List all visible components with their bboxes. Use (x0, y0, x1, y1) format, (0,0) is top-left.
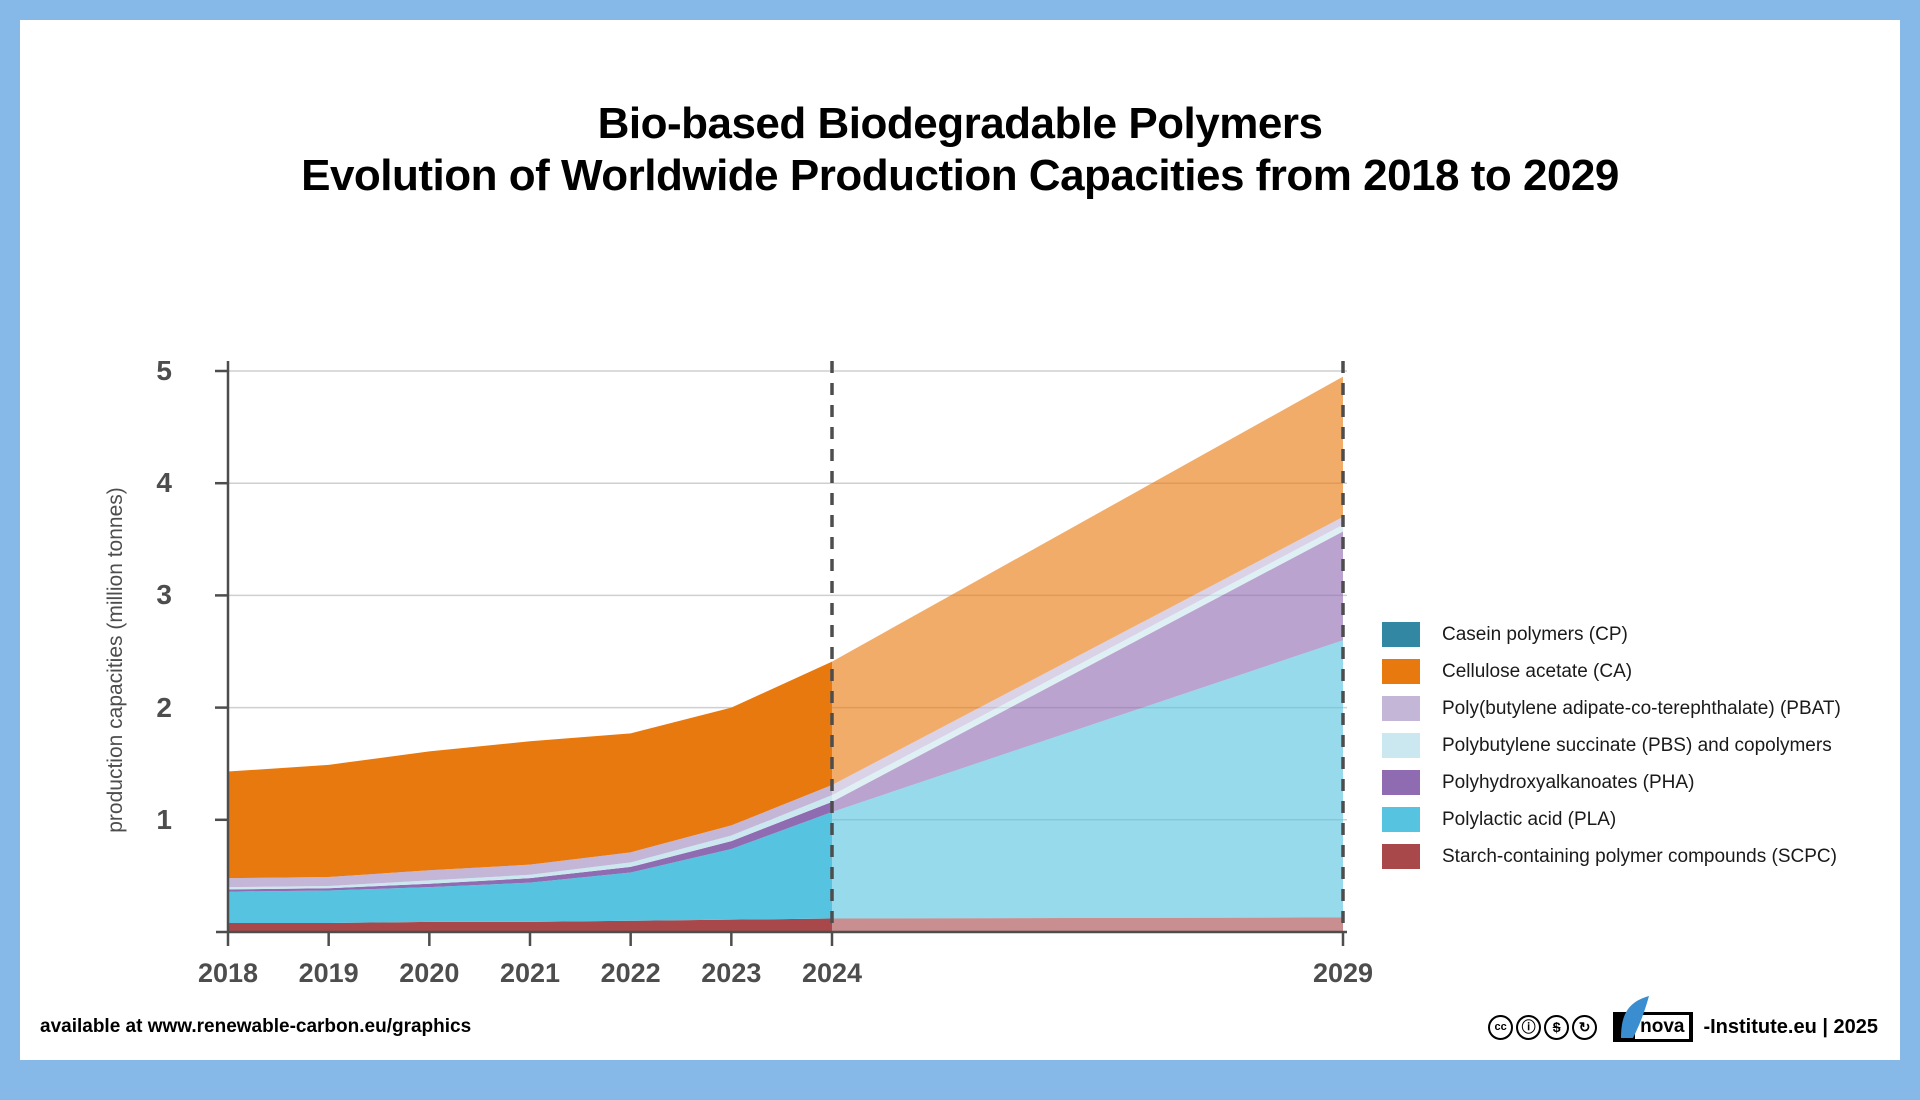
legend-swatch (1382, 696, 1420, 721)
legend-label: Starch-containing polymer compounds (SCP… (1442, 846, 1837, 868)
y-axis-tick-labels: 12345 (132, 20, 172, 1060)
cc-nc-icon: $ (1544, 1015, 1569, 1040)
x-tick-label: 2024 (802, 958, 862, 989)
y-tick-label: 5 (132, 355, 172, 387)
plot-area (20, 20, 1920, 1100)
y-tick-label: 3 (132, 579, 172, 611)
y-tick-label: 4 (132, 467, 172, 499)
cc-sa-icon: ↻ (1572, 1015, 1597, 1040)
legend-item[interactable]: Polyhydroxyalkanoates (PHA) (1382, 764, 1841, 801)
area-band-scpc-forecast (832, 917, 1343, 932)
x-tick-label: 2020 (399, 958, 459, 989)
legend-swatch (1382, 733, 1420, 758)
cc-icon: cc (1488, 1015, 1513, 1040)
legend-label: Poly(butylene adipate-co-terephthalate) … (1442, 698, 1841, 720)
legend-swatch (1382, 770, 1420, 795)
y-tick-label: 1 (132, 804, 172, 836)
creative-commons-icons: ccⓘ$↻ (1488, 1015, 1597, 1040)
cc-by-icon: ⓘ (1516, 1015, 1541, 1040)
footer-institute-text: -Institute.eu | 2025 (1703, 1016, 1878, 1039)
footer-source-text: available at www.renewable-carbon.eu/gra… (40, 1016, 471, 1038)
x-tick-label: 2018 (198, 958, 258, 989)
x-tick-label: 2019 (299, 958, 359, 989)
legend-item[interactable]: Polybutylene succinate (PBS) and copolym… (1382, 727, 1841, 764)
nova-logo-word: nova (1635, 1015, 1689, 1039)
legend-item[interactable]: Cellulose acetate (CA) (1382, 653, 1841, 690)
x-tick-label: 2021 (500, 958, 560, 989)
legend-label: Cellulose acetate (CA) (1442, 661, 1632, 683)
legend-label: Polybutylene succinate (PBS) and copolym… (1442, 735, 1832, 757)
legend-swatch (1382, 807, 1420, 832)
legend-item[interactable]: Poly(butylene adipate-co-terephthalate) … (1382, 690, 1841, 727)
legend-label: Polyhydroxyalkanoates (PHA) (1442, 772, 1694, 794)
legend-label: Polylactic acid (PLA) (1442, 809, 1616, 831)
page-border: Bio-based Biodegradable Polymers Evoluti… (0, 0, 1920, 1080)
legend-swatch (1382, 659, 1420, 684)
x-tick-label: 2022 (601, 958, 661, 989)
nova-logo-bar: nova (1613, 1012, 1693, 1042)
chart-legend: Casein polymers (CP)Cellulose acetate (C… (1382, 616, 1841, 875)
y-axis-title: production capacities (million tonnes) (104, 487, 128, 833)
footer-attribution: ccⓘ$↻ nova -Institute.eu | 2025 (1488, 1012, 1878, 1042)
legend-item[interactable]: Casein polymers (CP) (1382, 616, 1841, 653)
legend-swatch (1382, 844, 1420, 869)
chart-canvas: Bio-based Biodegradable Polymers Evoluti… (20, 20, 1900, 1060)
legend-item[interactable]: Starch-containing polymer compounds (SCP… (1382, 838, 1841, 875)
y-tick-label: 2 (132, 692, 172, 724)
legend-label: Casein polymers (CP) (1442, 624, 1628, 646)
stacked-area-chart (20, 20, 1920, 1100)
legend-swatch (1382, 622, 1420, 647)
x-tick-label: 2029 (1313, 958, 1373, 989)
x-tick-label: 2023 (701, 958, 761, 989)
legend-item[interactable]: Polylactic acid (PLA) (1382, 801, 1841, 838)
nova-institute-logo: nova (1613, 1012, 1693, 1042)
